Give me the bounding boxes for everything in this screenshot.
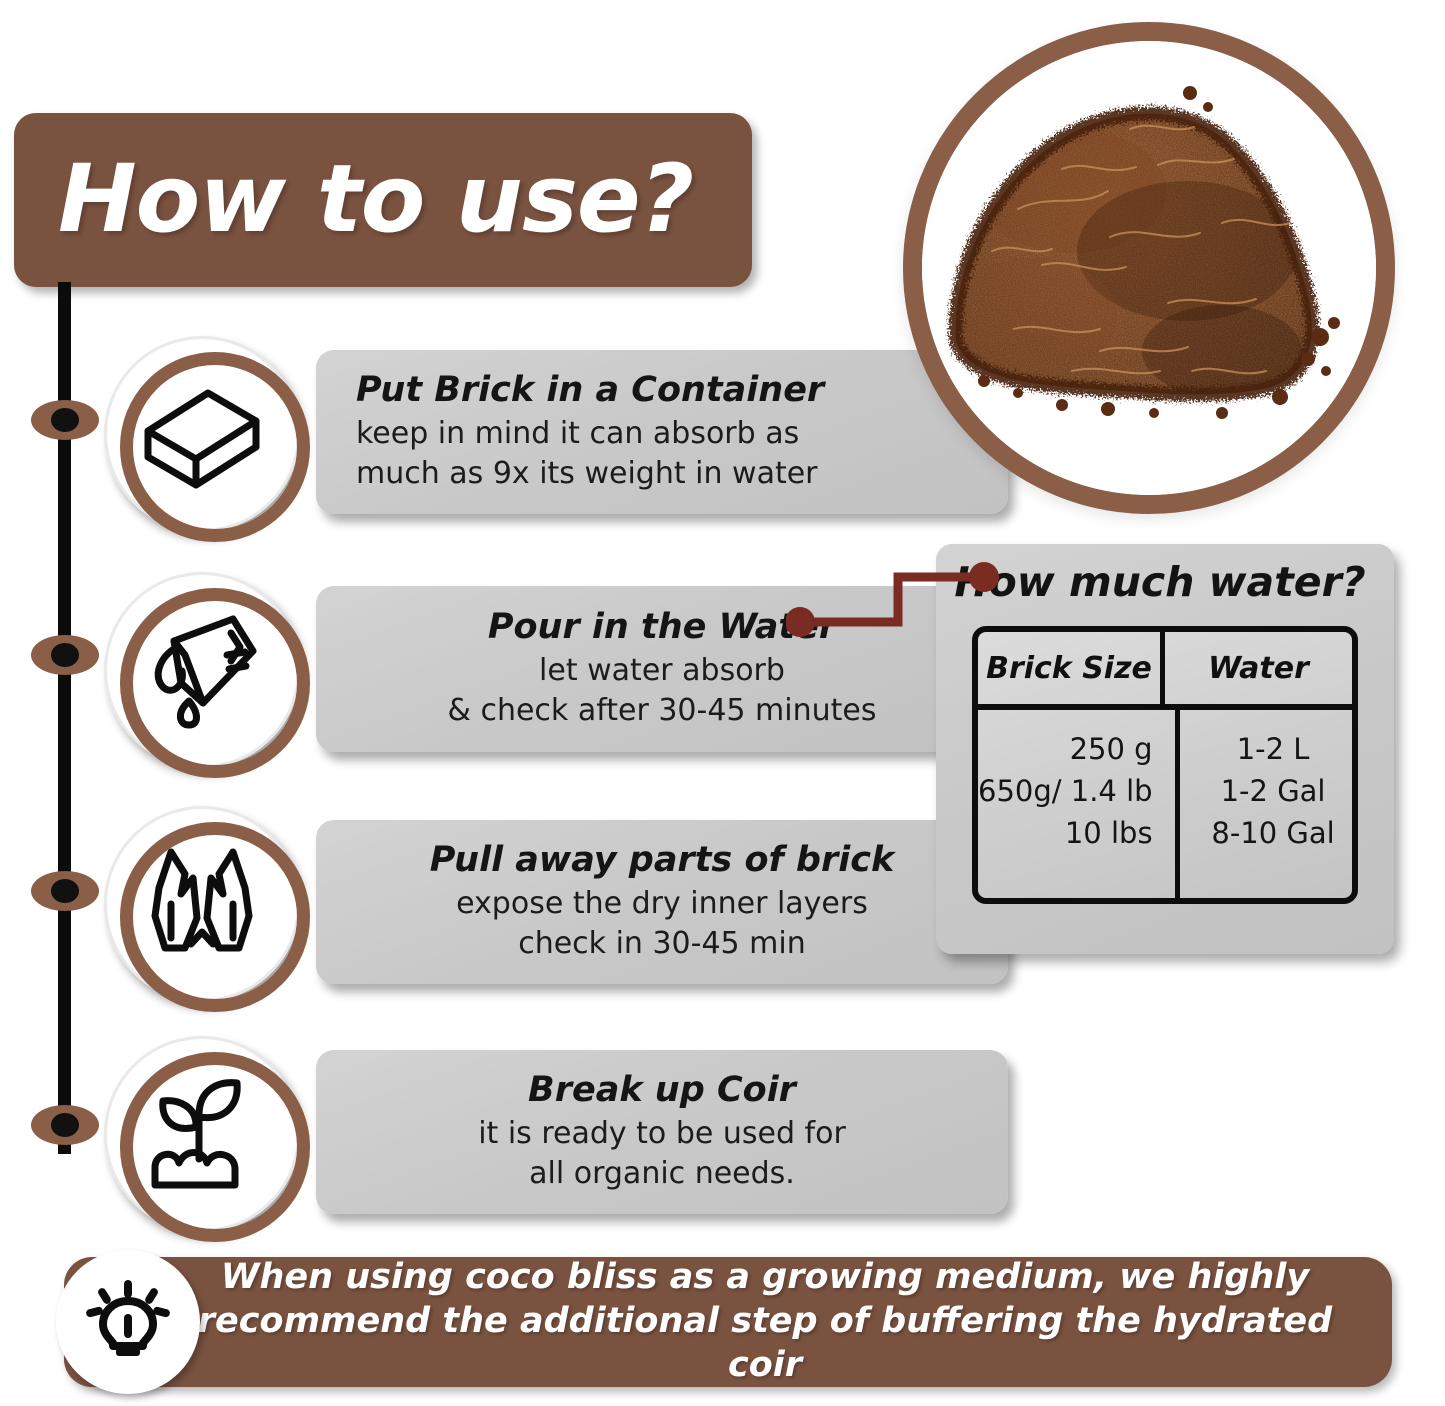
step-3-card: Pull away parts of brick expose the dry … [316,820,1008,984]
water-jug-icon [104,572,300,768]
step-4-title: Break up Coir [528,1070,796,1110]
water-panel: How much water? Brick Size Water 250 g 6… [936,544,1394,954]
step-4-desc-line-2: all organic needs. [529,1154,795,1194]
connector-dot-end [969,562,999,592]
coco-coir-photo [903,22,1395,514]
step-2-title: Pour in the Water [488,607,836,647]
coco-coir-photo-inner [922,41,1376,495]
bottom-tip-line-2: recommend the additional step of bufferi… [160,1300,1370,1388]
step-1-title: Put Brick in a Container [356,370,824,410]
how-to-use-infographic: How to use? Put Brick in a Container kee… [0,0,1445,1406]
step-3-desc-line-2: check in 30-45 min [518,924,806,964]
water-table: Brick Size Water 250 g 650g/ 1.4 lb 10 l… [972,626,1358,904]
coco-coir-illustration [922,41,1376,495]
water-value-2: 1-2 Gal [1221,770,1326,812]
step-4-card: Break up Coir it is ready to be used for… [316,1050,1008,1214]
step-1-desc-line-2: much as 9x its weight in water [356,454,818,494]
brick-size-value-3: 10 lbs [1065,812,1153,854]
water-amount-cell: 1-2 L 1-2 Gal 8-10 Gal [1180,710,1358,898]
bottom-tip-banner: When using coco bliss as a growing mediu… [64,1257,1392,1387]
lightbulb-icon [56,1250,200,1394]
water-value-3: 8-10 Gal [1211,812,1334,854]
timeline-dot-2 [31,635,99,675]
step-3-title: Pull away parts of brick [430,840,894,880]
connector-line [786,560,1000,640]
step-3-desc-line-1: expose the dry inner layers [456,884,868,924]
column-header-water: Water [1165,632,1352,704]
brick-size-cell: 250 g 650g/ 1.4 lb 10 lbs [978,710,1180,898]
step-4-desc-line-1: it is ready to be used for [478,1114,846,1154]
timeline-dot-1 [31,400,99,440]
brick-size-value-1: 250 g [1070,728,1153,770]
brick-size-value-2: 650g/ 1.4 lb [978,770,1153,812]
water-value-1: 1-2 L [1237,728,1310,770]
step-2-desc-line-2: & check after 30-45 minutes [448,691,877,731]
brick-icon [104,336,300,532]
water-table-header-row: Brick Size Water [978,632,1352,710]
column-header-brick-size: Brick Size [978,632,1165,704]
seedling-icon [104,1036,300,1232]
page-title: How to use? [14,153,693,247]
water-table-body: 250 g 650g/ 1.4 lb 10 lbs 1-2 L 1-2 Gal … [978,710,1352,898]
step-2-desc-line-1: let water absorb [539,651,785,691]
step-1-card: Put Brick in a Container keep in mind it… [316,350,1008,514]
timeline-dot-4 [31,1105,99,1145]
water-panel-title: How much water? [936,558,1384,606]
step-1-desc-line-1: keep in mind it can absorb as [356,414,799,454]
connector-dot-start [786,607,815,637]
timeline-dot-3 [31,871,99,911]
hands-breaking-brick-icon [104,806,300,1002]
header-banner: How to use? [14,113,752,287]
bottom-tip-text: When using coco bliss as a growing mediu… [64,1256,1392,1387]
bottom-tip-line-1: When using coco bliss as a growing mediu… [160,1256,1370,1300]
